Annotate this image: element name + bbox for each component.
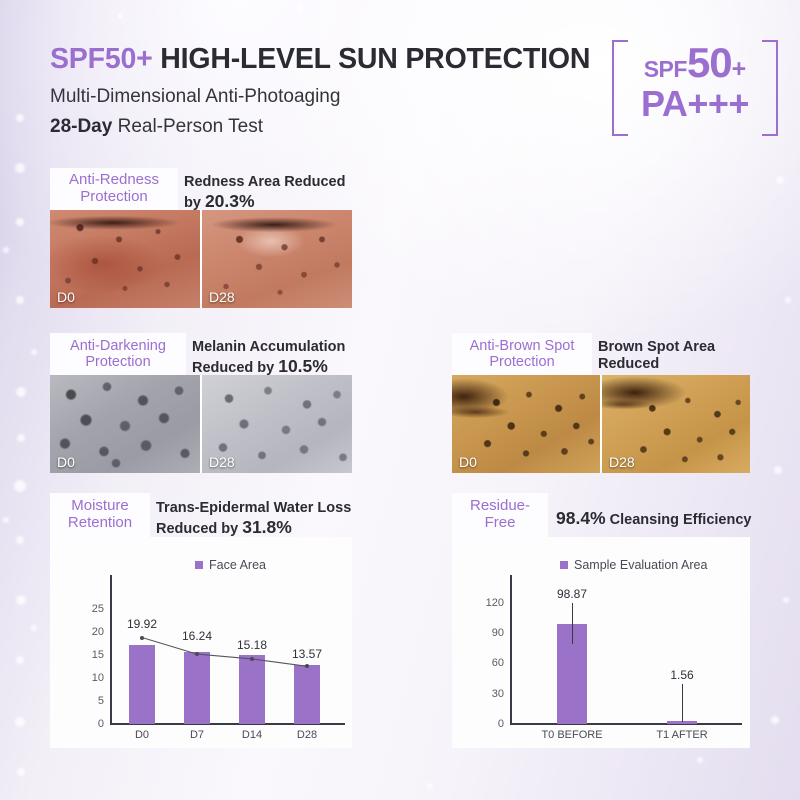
headline-residue: 98.4% Cleansing Efficiency <box>556 508 756 529</box>
headline-anti-redness-line1: Redness Area Reduced <box>184 174 359 191</box>
headline-anti-darkening-line1: Melanin Accumulation <box>192 339 367 356</box>
value-residue: 98.4% <box>556 508 606 528</box>
trend-point-d14 <box>250 657 254 661</box>
ytick-120: 120 <box>470 597 504 609</box>
tag-anti-darkening-line2: Protection <box>70 354 166 370</box>
legend-swatch-sample-area <box>560 561 568 569</box>
value-anti-darkening: 10.5% <box>278 356 328 376</box>
page-title-rest: HIGH-LEVEL SUN PROTECTION <box>160 43 590 75</box>
headline-anti-darkening-by: Reduced by <box>192 360 274 376</box>
data-label-t0-before: 98.87 <box>546 587 598 601</box>
chart-moisture-retention: Face Area 0 5 10 15 20 25 <box>50 537 352 748</box>
image-d28-anti-redness: D28 <box>200 210 352 308</box>
data-label-d7: 16.24 <box>173 629 221 643</box>
tag-anti-redness-line2: Protection <box>69 189 159 206</box>
xtick-d7: D7 <box>173 729 221 741</box>
error-bar-t1-after <box>682 684 683 722</box>
headline-moisture-line1: Trans-Epidermal Water Loss <box>156 500 356 517</box>
bracket-left-icon <box>612 40 628 136</box>
ytick-30: 30 <box>470 688 504 700</box>
day-label-d28: D28 <box>209 289 235 305</box>
headline-anti-redness-by: by <box>184 195 201 211</box>
day-label-d0: D0 <box>57 289 75 305</box>
data-label-d14: 15.18 <box>228 638 276 652</box>
tag-anti-brown-spot-line2: Protection <box>470 354 575 370</box>
tag-anti-redness-line1: Anti-Redness <box>69 172 159 189</box>
image-pair-anti-darkening: D0 D28 <box>50 375 352 473</box>
day-label-d0: D0 <box>57 454 75 470</box>
data-label-t1-after: 1.56 <box>656 668 708 682</box>
panel-moisture-retention: Moisture Retention Trans-Epidermal Water… <box>50 493 352 748</box>
chart-residue-free: Sample Evaluation Area 0 30 60 90 120 98… <box>452 537 750 748</box>
tag-anti-brown-spot-line1: Anti-Brown Spot <box>470 338 575 354</box>
xtick-d0: D0 <box>118 729 166 741</box>
tag-anti-darkening-line1: Anti-Darkening <box>70 338 166 354</box>
trend-point-d0 <box>140 636 144 640</box>
headline-residue-rest: Cleansing Efficiency <box>610 512 752 528</box>
xtick-t1-after: T1 AFTER <box>642 729 722 741</box>
error-bar-t0-before <box>572 603 573 644</box>
day-label-d28: D28 <box>609 454 635 470</box>
image-pair-anti-redness: D0 D28 <box>50 210 352 308</box>
tag-residue-line2: Free <box>470 515 530 532</box>
spf-badge: SPF 50 + PA+++ <box>612 40 778 136</box>
tag-anti-redness: Anti-Redness Protection <box>50 168 178 210</box>
image-d0-anti-brown-spot: D0 <box>452 375 600 473</box>
image-pair-anti-brown-spot: D0 D28 <box>452 375 750 473</box>
data-label-d0: 19.92 <box>118 617 166 631</box>
pa-rating: PA+++ <box>628 84 762 124</box>
tag-moisture-retention: Moisture Retention <box>50 493 150 537</box>
panel-anti-redness: Anti-Redness Protection Redness Area Red… <box>50 168 352 308</box>
panel-anti-darkening: Anti-Darkening Protection Melanin Accumu… <box>50 333 352 473</box>
tag-residue-free: Residue- Free <box>452 493 548 537</box>
xtick-t0-before: T0 BEFORE <box>532 729 612 741</box>
headline-moisture: Trans-Epidermal Water Loss Reduced by 31… <box>156 500 356 539</box>
headline-anti-brown-spot-line1: Brown Spot Area Reduced <box>598 339 778 374</box>
ytick-90: 90 <box>470 627 504 639</box>
chart-y-axis <box>510 575 512 725</box>
tag-moisture-line1: Moisture <box>68 498 132 515</box>
image-d28-anti-darkening: D28 <box>200 375 352 473</box>
image-d0-anti-redness: D0 <box>50 210 200 308</box>
headline-anti-darkening: Melanin Accumulation Reduced by 10.5% <box>192 339 367 378</box>
spf-plus: + <box>732 55 747 84</box>
value-moisture: 31.8% <box>242 517 292 537</box>
tag-residue-line1: Residue- <box>470 498 530 515</box>
xtick-d14: D14 <box>228 729 276 741</box>
poster-root: SPF50+ HIGH-LEVEL SUN PROTECTION Multi-D… <box>0 0 800 800</box>
spf-label: SPF <box>644 56 687 83</box>
day-label-d28: D28 <box>209 454 235 470</box>
image-d0-anti-darkening: D0 <box>50 375 200 473</box>
bracket-right-icon <box>762 40 778 136</box>
ytick-0: 0 <box>470 718 504 730</box>
panel-residue-free: Residue- Free 98.4% Cleansing Efficiency… <box>452 493 750 748</box>
page-title-accent: SPF50+ <box>50 43 153 75</box>
test-type: Real-Person Test <box>118 116 263 137</box>
chart-legend-residue: Sample Evaluation Area <box>560 558 707 572</box>
tag-moisture-line2: Retention <box>68 515 132 532</box>
xtick-d28: D28 <box>283 729 331 741</box>
headline-moisture-by: Reduced by <box>156 521 238 537</box>
tag-anti-brown-spot: Anti-Brown Spot Protection <box>452 333 592 375</box>
chart-x-axis <box>510 723 742 725</box>
header: SPF50+ HIGH-LEVEL SUN PROTECTION Multi-D… <box>50 44 610 139</box>
value-anti-redness: 20.3% <box>205 191 255 211</box>
image-d28-anti-brown-spot: D28 <box>600 375 750 473</box>
test-duration: 28-Day <box>50 116 112 137</box>
data-label-d28: 13.57 <box>283 647 331 661</box>
panel-anti-brown-spot: Anti-Brown Spot Protection Brown Spot Ar… <box>452 333 750 473</box>
page-title: SPF50+ HIGH-LEVEL SUN PROTECTION <box>50 44 610 76</box>
spf-value: 50 <box>687 42 732 84</box>
headline-anti-redness: Redness Area Reduced by 20.3% <box>184 174 359 213</box>
day-label-d0: D0 <box>459 454 477 470</box>
page-subtitle: Multi-Dimensional Anti-Photoaging <box>50 86 610 109</box>
legend-label-sample-area: Sample Evaluation Area <box>574 558 707 572</box>
tag-anti-darkening: Anti-Darkening Protection <box>50 333 186 375</box>
page-subtitle-2: 28-Day Real-Person Test <box>50 116 610 139</box>
ytick-60: 60 <box>470 657 504 669</box>
